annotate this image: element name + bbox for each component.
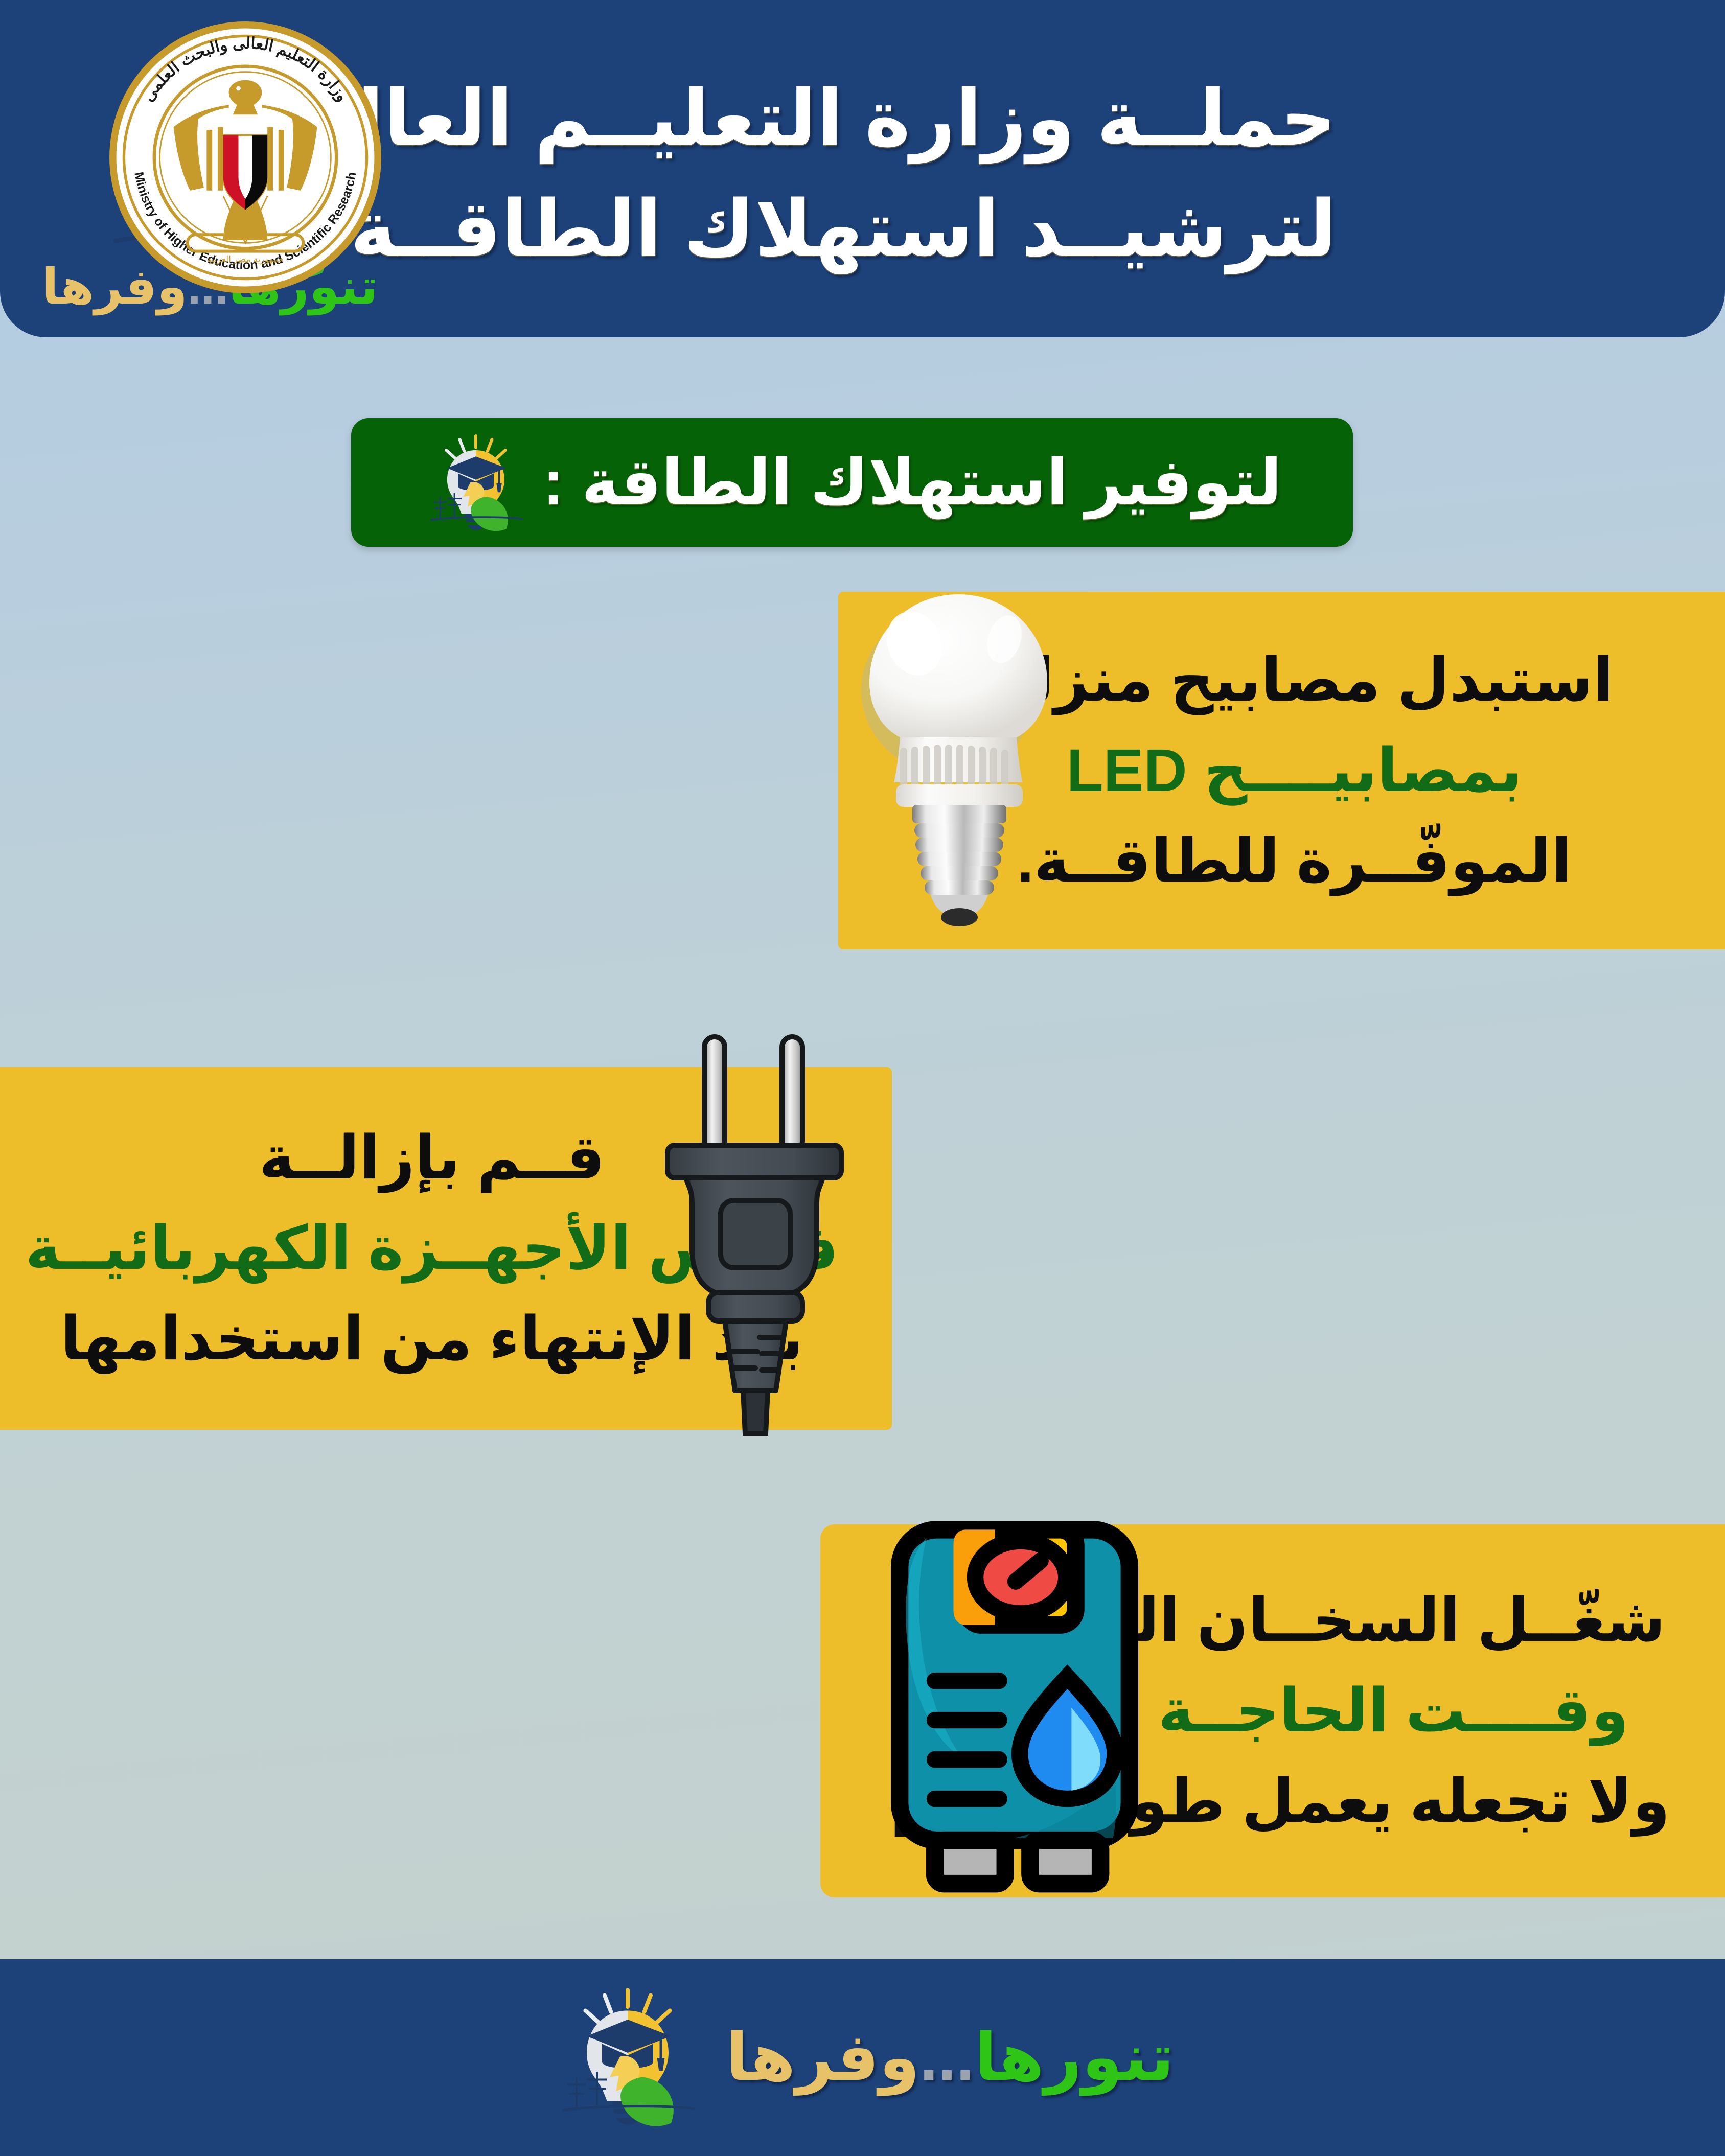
led-light-bulb-icon xyxy=(851,580,1066,968)
header-band: تنورها...وفرها حملــة وزارة التعليــم ال… xyxy=(0,0,1725,337)
seal-crest-caption: جمهورية مصر العربية xyxy=(207,254,284,265)
electric-plug-icon xyxy=(645,1014,865,1439)
footer-slogan-dots: ... xyxy=(920,2021,975,2094)
footer-slogan-save-word: وفرها xyxy=(726,2021,920,2094)
header-title-line-2: لترشيــد استهلاك الطاقــة xyxy=(427,174,1337,285)
footer-campaign-logo xyxy=(551,1981,704,2135)
footer-slogan-light-word: تنورها xyxy=(974,2021,1174,2094)
footer-band: تنورها...وفرها xyxy=(0,1959,1725,2156)
banner-lightbulb-icon xyxy=(422,429,530,536)
page-title: حملــة وزارة التعليــم العالــي لترشيــد… xyxy=(427,64,1337,285)
banner-label: لتوفير استهلاك الطاقة : xyxy=(543,446,1282,519)
ministry-seal: وزارة التعليم العالى والبحث العلمى Minis… xyxy=(107,19,383,295)
electric-water-heater-icon xyxy=(884,1515,1145,1919)
footer-slogan: تنورها...وفرها xyxy=(726,2020,1175,2096)
section-banner: لتوفير استهلاك الطاقة : xyxy=(351,418,1353,547)
energy-saving-infographic-poster: تنورها...وفرها حملــة وزارة التعليــم ال… xyxy=(0,0,1725,2156)
header-title-line-1: حملــة وزارة التعليــم العالــي xyxy=(427,64,1337,174)
